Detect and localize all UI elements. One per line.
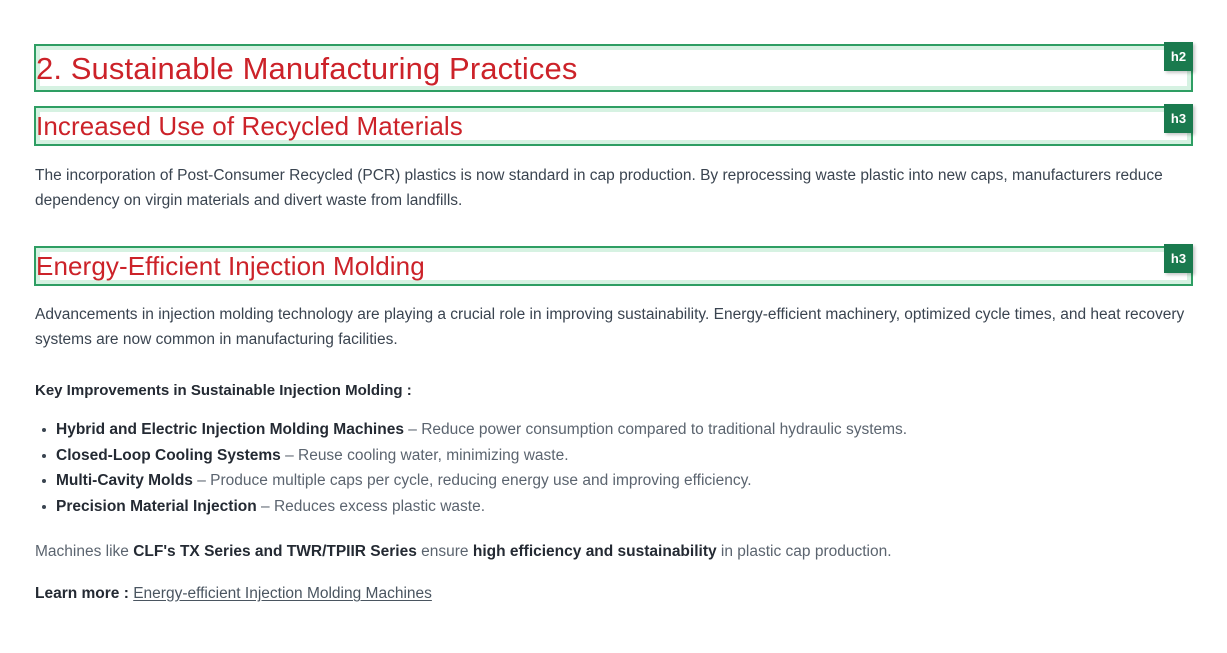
paragraph-energy-efficient: Advancements in injection molding techno… [35,302,1203,352]
heading-h3-increased-use-of-recycled-materials: Increased Use of Recycled Materials h3 [34,106,1193,146]
closing-prefix: Machines like [35,543,133,560]
key-improvements-list: Hybrid and Electric Injection Molding Ma… [0,417,1227,519]
learn-more-label: Learn more : [35,585,129,602]
heading-h3-text: Energy-Efficient Injection Molding [34,253,425,279]
tag-badge-h3-first: h3 [1164,104,1193,133]
heading-h2-text: 2. Sustainable Manufacturing Practices [34,53,577,84]
list-item: Multi-Cavity Molds – Produce multiple ca… [56,468,1227,494]
heading-h3-text: Increased Use of Recycled Materials [34,113,463,139]
tag-badge-h3-second: h3 [1164,244,1193,273]
document-page: 2. Sustainable Manufacturing Practices h… [0,44,1227,653]
list-item-term: Precision Material Injection [56,498,257,515]
list-intro-label: Key Improvements in Sustainable Injectio… [35,380,1227,402]
heading-h3-energy-efficient-injection-molding: Energy-Efficient Injection Molding h3 [34,246,1193,286]
closing-bold-benefit: high efficiency and sustainability [473,543,717,560]
list-item: Hybrid and Electric Injection Molding Ma… [56,417,1227,443]
list-item-separator: – [281,447,298,464]
closing-suffix: in plastic cap production. [717,543,892,560]
list-item-description: Reduces excess plastic waste. [274,498,485,515]
tag-badge-h2: h2 [1164,42,1193,71]
learn-more-line: Learn more : Energy-efficient Injection … [35,582,1227,606]
list-item-separator: – [193,472,210,489]
list-item-term: Hybrid and Electric Injection Molding Ma… [56,421,404,438]
list-item: Precision Material Injection – Reduces e… [56,494,1227,520]
list-item-term: Multi-Cavity Molds [56,472,193,489]
list-item-description: Reuse cooling water, minimizing waste. [298,447,569,464]
list-item-description: Produce multiple caps per cycle, reducin… [210,472,751,489]
closing-bold-series: CLF's TX Series and TWR/TPIIR Series [133,543,417,560]
paragraph-recycled-materials: The incorporation of Post-Consumer Recyc… [35,163,1203,213]
list-item-description: Reduce power consumption compared to tra… [421,421,907,438]
list-item-separator: – [404,421,421,438]
list-item-term: Closed-Loop Cooling Systems [56,447,281,464]
list-item: Closed-Loop Cooling Systems – Reuse cool… [56,443,1227,469]
paragraph-machines-closing: Machines like CLF's TX Series and TWR/TP… [35,540,1227,564]
closing-middle: ensure [417,543,473,560]
learn-more-link[interactable]: Energy-efficient Injection Molding Machi… [133,585,432,602]
list-item-separator: – [257,498,274,515]
heading-h2-sustainable-manufacturing-practices: 2. Sustainable Manufacturing Practices h… [34,44,1193,92]
